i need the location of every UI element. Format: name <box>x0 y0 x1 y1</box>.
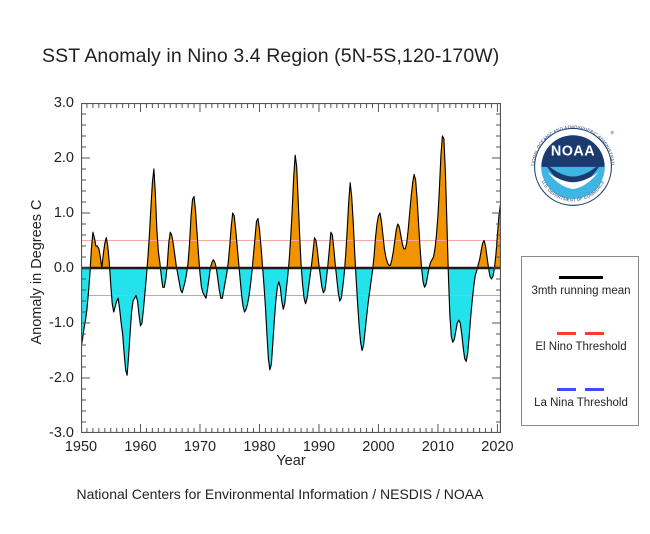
x-axis-label: Year <box>81 453 501 469</box>
legend-swatch <box>543 327 619 339</box>
noaa-logo-svg: NOAA NATIONAL OCEANIC AND ATMOSPHERIC AD… <box>525 117 621 213</box>
legend-swatch <box>543 271 619 283</box>
legend-label: El Nino Threshold <box>522 341 640 353</box>
y-tick-label: 1.0 <box>28 206 74 221</box>
footer-credit: National Centers for Environmental Infor… <box>0 486 560 502</box>
chart-page: SST Anomaly in Nino 3.4 Region (5N-5S,12… <box>0 0 650 534</box>
y-tick-label: 3.0 <box>28 96 74 111</box>
y-tick-label: -2.0 <box>28 371 74 386</box>
plot-area <box>81 103 501 433</box>
y-tick-label: -1.0 <box>28 316 74 331</box>
anomaly-timeseries-svg <box>81 103 501 433</box>
y-tick-label: 0.0 <box>28 261 74 276</box>
legend-line-dash <box>557 332 576 335</box>
legend-label: 3mth running mean <box>522 285 640 297</box>
y-tick-label: 2.0 <box>28 151 74 166</box>
noaa-logo-acronym: NOAA <box>551 143 595 159</box>
legend-line-dash <box>585 332 604 335</box>
legend-line-dash <box>557 388 576 391</box>
legend-label: La Nina Threshold <box>522 397 640 409</box>
legend-line-dash <box>585 388 604 391</box>
legend: 3mth running meanEl Nino ThresholdLa Nin… <box>521 256 639 426</box>
registered-mark-icon: ® <box>610 129 614 136</box>
legend-line-solid <box>559 276 603 279</box>
legend-swatch <box>543 383 619 395</box>
chart-title: SST Anomaly in Nino 3.4 Region (5N-5S,12… <box>42 45 499 68</box>
legend-entry: El Nino Threshold <box>522 327 640 353</box>
noaa-logo: NOAA NATIONAL OCEANIC AND ATMOSPHERIC AD… <box>525 117 621 213</box>
legend-entry: 3mth running mean <box>522 271 640 297</box>
legend-entry: La Nina Threshold <box>522 383 640 409</box>
